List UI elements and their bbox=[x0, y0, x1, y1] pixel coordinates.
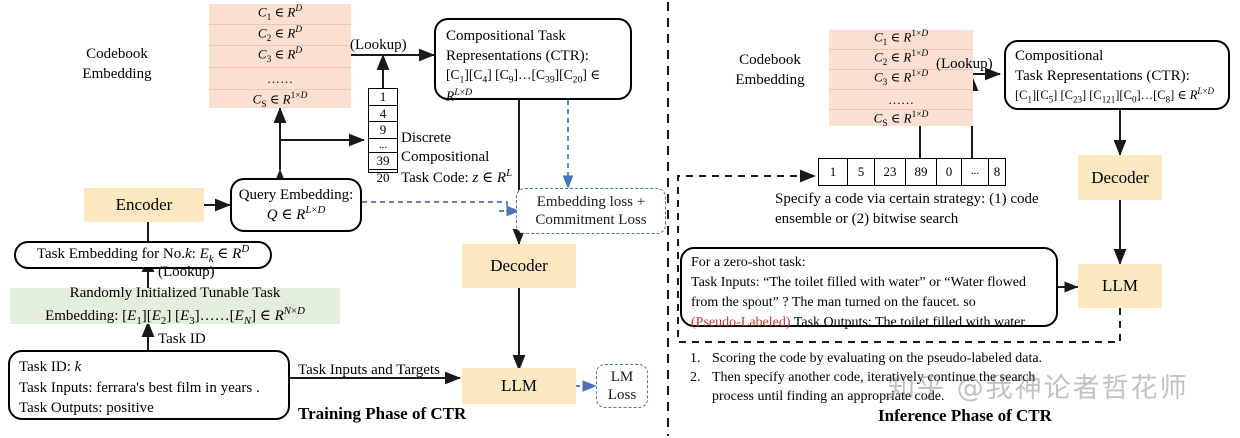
codebook-row: …… bbox=[829, 90, 973, 110]
decoder-box-inference: Decoder bbox=[1078, 155, 1162, 200]
training-sample-box: Task ID: k Task Inputs: ferrara's best f… bbox=[8, 350, 290, 420]
ctr-line2: Representations (CTR): bbox=[446, 47, 620, 67]
watermark: 知乎 @我神论者哲花师 bbox=[888, 366, 1189, 405]
codebook-row-text: CS ∈ R1×D bbox=[253, 91, 308, 111]
query-embedding-line2: Q ∈ RL×D bbox=[267, 204, 326, 224]
inference-code-row: 1 5 23 89 0 ... 8 bbox=[818, 158, 1006, 186]
codebook-table-right: C1 ∈ R1×D C2 ∈ R1×D C3 ∈ R1×D …… CS ∈ R1… bbox=[829, 30, 973, 126]
task-embedding-k-box: Task Embedding for No.k: Ek ∈ RD bbox=[14, 241, 272, 269]
sample-line2: Task Inputs: ferrara's best film in year… bbox=[19, 378, 279, 399]
codebook-row: C1 ∈ RD bbox=[209, 4, 351, 25]
code-cell: 8 bbox=[989, 159, 1005, 185]
codebook-row: CS ∈ R1×D bbox=[829, 110, 973, 130]
query-embedding-line1: Query Embedding: bbox=[239, 186, 354, 204]
codebook-embedding-label-left: Codebook Embedding bbox=[52, 44, 182, 85]
code-cell: 9 bbox=[369, 122, 397, 139]
discrete-line1: Discrete bbox=[401, 129, 512, 148]
codebook-row-text: …… bbox=[267, 71, 293, 87]
llm-box-training: LLM bbox=[462, 368, 576, 404]
figure-canvas: Codebook Embedding C1 ∈ RD C2 ∈ RD C3 ∈ … bbox=[0, 0, 1240, 438]
lookup-label-left: (Lookup) bbox=[350, 36, 407, 54]
code-cell: 89 bbox=[906, 159, 937, 185]
ctr-line1-right: Compositional bbox=[1015, 47, 1219, 67]
codebook-row: CS ∈ R1×D bbox=[209, 90, 351, 112]
code-cell: 0 bbox=[937, 159, 962, 185]
llm-box-inference: LLM bbox=[1078, 264, 1162, 308]
codebook-label-line2: Embedding bbox=[52, 64, 182, 84]
training-phase-title: Training Phase of CTR bbox=[298, 404, 466, 424]
step-number: 1. bbox=[690, 350, 712, 369]
tunable-task-embedding-box: Randomly Initialized Tunable Task Embedd… bbox=[10, 288, 340, 324]
lookup-label-right: (Lookup) bbox=[936, 55, 993, 73]
strategy-line1: Specify a code via certain strategy: (1)… bbox=[775, 190, 1075, 210]
decoder-box-training: Decoder bbox=[462, 244, 576, 288]
discrete-line3: Task Code: z ∈ RL bbox=[401, 167, 512, 188]
zero-shot-line4: (Pseudo-Labeled) Task Outputs: The toile… bbox=[691, 313, 1047, 333]
code-cell: 1 bbox=[819, 159, 848, 185]
sample-line3: Task Outputs: positive bbox=[19, 398, 279, 419]
zero-shot-line1: For a zero-shot task: bbox=[691, 253, 1047, 273]
code-cell: 5 bbox=[848, 159, 875, 185]
codebook-row: …… bbox=[209, 68, 351, 90]
ctr-line3-right: [C1][C5] [C23] [C121][C0]…[C8] ∈ RL×D bbox=[1015, 86, 1219, 106]
query-embedding-box: Query Embedding: Q ∈ RL×D bbox=[230, 178, 362, 232]
codebook-row-text: C1 ∈ R1×D bbox=[874, 29, 928, 49]
ctr-line1: Compositional Task bbox=[446, 27, 620, 47]
zero-shot-line2: Task Inputs: “The toilet filled with wat… bbox=[691, 273, 1047, 293]
ctr-line3: [C1][C4] [C9]…[C39][C20] ∈ RL×D bbox=[446, 66, 620, 105]
code-cell: ... bbox=[369, 139, 397, 153]
codebook-label-line2-right: Embedding bbox=[705, 70, 835, 90]
lm-loss-line2: Loss bbox=[608, 386, 636, 404]
pseudo-labeled-rest: Task Outputs: The toilet filled with wat… bbox=[791, 315, 1026, 330]
codebook-row-text: CS ∈ R1×D bbox=[874, 110, 929, 130]
encoder-box: Encoder bbox=[84, 188, 204, 222]
codebook-row: C3 ∈ RD bbox=[209, 46, 351, 68]
step-number: 2. bbox=[690, 369, 712, 388]
codebook-row: C1 ∈ R1×D bbox=[829, 30, 973, 50]
discrete-compositional-task-code-label: Discrete Compositional Task Code: z ∈ RL bbox=[401, 129, 512, 189]
task-id-arrow-label: Task ID bbox=[158, 330, 206, 348]
task-inputs-targets-label: Task Inputs and Targets bbox=[298, 361, 440, 379]
code-cell: 4 bbox=[369, 106, 397, 123]
code-cell: 1 bbox=[369, 89, 397, 106]
codebook-label-line1-right: Codebook bbox=[705, 50, 835, 70]
embedding-loss-line2: Commitment Loss bbox=[535, 211, 646, 229]
codebook-row-text: C1 ∈ RD bbox=[258, 4, 302, 24]
code-cell: 39 bbox=[369, 153, 397, 170]
task-embedding-k-text: Task Embedding for No.k: Ek ∈ RD bbox=[37, 243, 249, 266]
tunable-line2: Embedding: [E1][E2] [E3]……[EN] ∈ RN×D bbox=[45, 304, 305, 328]
discrete-line2: Compositional bbox=[401, 148, 512, 167]
codebook-label-line1: Codebook bbox=[52, 44, 182, 64]
lm-loss-box: LM Loss bbox=[596, 364, 648, 408]
code-cell: 23 bbox=[875, 159, 906, 185]
codebook-row-text: C2 ∈ RD bbox=[258, 25, 302, 45]
codebook-embedding-label-right: Codebook Embedding bbox=[705, 50, 835, 91]
code-cell: ... bbox=[962, 159, 989, 185]
lm-loss-line1: LM bbox=[611, 368, 634, 386]
ctr-box-training: Compositional Task Representations (CTR)… bbox=[434, 18, 632, 100]
ctr-line2-right: Task Representations (CTR): bbox=[1015, 67, 1219, 87]
codebook-row-text: C3 ∈ RD bbox=[258, 46, 302, 66]
zero-shot-task-box: For a zero-shot task: Task Inputs: “The … bbox=[680, 247, 1058, 327]
codebook-row: C2 ∈ RD bbox=[209, 25, 351, 46]
codebook-row-text: …… bbox=[888, 92, 914, 108]
codebook-row-text: C2 ∈ R1×D bbox=[874, 49, 928, 69]
strategy-label: Specify a code via certain strategy: (1)… bbox=[775, 190, 1075, 229]
ctr-box-inference: Compositional Task Representations (CTR)… bbox=[1004, 40, 1230, 110]
zero-shot-line3: from the spout” ? The man turned on the … bbox=[691, 293, 1047, 313]
codebook-row-text: C3 ∈ R1×D bbox=[874, 69, 928, 89]
embedding-loss-line1: Embedding loss + bbox=[537, 193, 645, 211]
codebook-table-left: C1 ∈ RD C2 ∈ RD C3 ∈ RD …… CS ∈ R1×D bbox=[209, 4, 351, 108]
step-number bbox=[690, 388, 712, 407]
lookup-label-left-2: (Lookup) bbox=[158, 263, 215, 281]
strategy-line2: ensemble or (2) bitwise search bbox=[775, 210, 1075, 230]
embedding-commitment-loss-box: Embedding loss + Commitment Loss bbox=[516, 188, 666, 234]
inference-phase-title: Inference Phase of CTR bbox=[878, 406, 1052, 426]
discrete-code-column: 1 4 9 ... 39 20 bbox=[368, 88, 398, 173]
code-cell: 20 bbox=[369, 170, 397, 186]
pseudo-labeled-tag: (Pseudo-Labeled) bbox=[691, 315, 791, 330]
tunable-line1: Randomly Initialized Tunable Task bbox=[70, 284, 281, 304]
sample-line1: Task ID: k bbox=[19, 357, 279, 378]
